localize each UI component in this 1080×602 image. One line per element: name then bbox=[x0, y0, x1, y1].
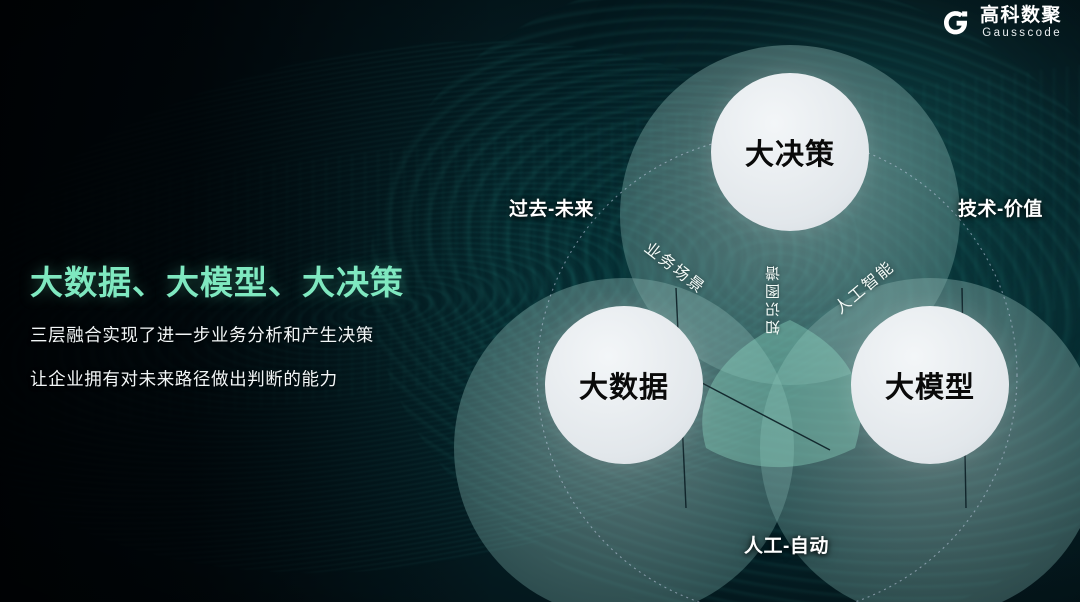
axis-label-past-future: 过去-未来 bbox=[509, 194, 594, 221]
logo-name-en: Gausscode bbox=[980, 28, 1062, 40]
subtitle-line-1: 三层融合实现了进一步业务分析和产生决策 bbox=[30, 322, 374, 347]
axis-label-manual-automatic: 人工-自动 bbox=[744, 531, 829, 558]
logo-wordmark: 高科数聚 Gausscode bbox=[980, 6, 1062, 40]
page-title: 大数据、大模型、大决策 bbox=[30, 256, 404, 304]
subtitle-line-2: 让企业拥有对未来路径做出判断的能力 bbox=[30, 366, 338, 391]
venn-label-bigdata: 大数据 bbox=[579, 364, 669, 406]
slide-root: 高科数聚 Gausscode 大数据、大模型、大决策 三层融合实现了进一步业务分… bbox=[0, 0, 1080, 602]
venn-intersection-knowledge-graph: 知识图谱 bbox=[763, 263, 784, 335]
brand-logo: 高科数聚 Gausscode bbox=[941, 6, 1062, 40]
gausscode-g-icon bbox=[941, 8, 971, 38]
venn-label-decision: 大决策 bbox=[745, 131, 835, 173]
axis-label-tech-value: 技术-价值 bbox=[958, 194, 1043, 221]
venn-label-bigmodel: 大模型 bbox=[885, 364, 975, 406]
logo-name-cn: 高科数聚 bbox=[980, 6, 1062, 25]
